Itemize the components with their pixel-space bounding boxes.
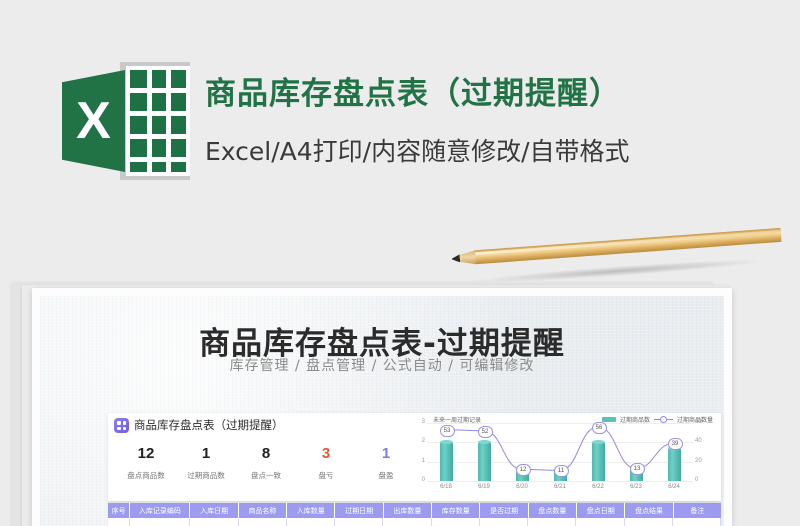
data-table: 序号入库记录编码入库日期商品名称入库数量过期日期出库数量库存数量是否过期盘点数量… [108, 503, 721, 526]
table-header-cell[interactable]: 入库记录编码 [130, 503, 190, 518]
table-header-cell[interactable]: 过期日期 [335, 503, 383, 518]
y-axis-tick-right: 20 [695, 458, 708, 464]
table-cell[interactable] [480, 518, 528, 526]
table-header-cell[interactable]: 入库日期 [190, 503, 238, 518]
table-header-row: 序号入库记录编码入库日期商品名称入库数量过期日期出库数量库存数量是否过期盘点数量… [108, 503, 721, 518]
grid-app-icon [114, 418, 129, 433]
table-cell[interactable] [528, 518, 576, 526]
table-header-cell[interactable]: 盘点日期 [577, 503, 625, 518]
kpi-value: 8 [236, 446, 296, 462]
chart-plot-area: 012302040606/186/196/206/216/226/236/245… [427, 423, 693, 481]
chart-data-label: 11 [554, 465, 569, 477]
banner-title: 商品库存盘点表（过期提醒） [205, 68, 621, 113]
y-axis-tick-left: 1 [416, 458, 425, 464]
table-header-cell[interactable]: 盘点结果 [625, 503, 673, 518]
y-axis-tick-right: 40 [695, 438, 708, 444]
table-header-cell[interactable]: 备注 [674, 503, 721, 518]
kpi-label: 盘亏 [296, 470, 356, 481]
table-cell[interactable] [287, 518, 335, 526]
x-axis-tick: 6/22 [584, 484, 612, 490]
y-axis-tick-left: 2 [416, 438, 425, 444]
kpi-label: 盘点一致 [236, 470, 296, 481]
x-axis-tick: 6/21 [546, 484, 574, 490]
chart-data-label: 56 [592, 422, 607, 434]
table-cell[interactable] [576, 518, 624, 526]
expiry-chart: 未来一周过期记录 过期商品数 过期商品数量 012302040606/186/1… [413, 415, 715, 499]
kpi-value: 1 [356, 446, 416, 462]
chart-gridline [427, 481, 693, 482]
x-axis-tick: 6/19 [470, 484, 498, 490]
table-header-cell[interactable]: 序号 [108, 503, 130, 518]
table-cell[interactable] [130, 518, 190, 526]
table-cell[interactable] [335, 518, 383, 526]
legend-swatch-bar [602, 417, 616, 422]
excel-logo-grid-panel [120, 62, 190, 180]
kpi-item: 3 盘亏 [296, 446, 356, 481]
table-header-cell[interactable]: 是否过期 [480, 503, 528, 518]
y-axis-tick-right: 0 [695, 477, 708, 483]
chart-data-label: 39 [668, 438, 683, 450]
kpi-value: 3 [296, 446, 356, 462]
kpi-row: 12 盘点商品数 1 过期商品数 8 盘点一致 3 盘亏 1 盘盈 [116, 446, 416, 481]
kpi-item: 12 盘点商品数 [116, 446, 176, 481]
table-cell[interactable] [625, 518, 673, 526]
excel-logo: X [62, 62, 190, 180]
kpi-label: 过期商品数 [176, 470, 236, 481]
kpi-item: 1 盘盈 [356, 446, 416, 481]
table-cell[interactable] [673, 518, 721, 526]
chart-data-label: 13 [630, 463, 645, 475]
kpi-label: 盘点商品数 [116, 470, 176, 481]
y-axis-tick-left: 3 [416, 419, 425, 425]
excel-logo-grid [126, 66, 190, 176]
table-header-cell[interactable]: 库存数量 [432, 503, 480, 518]
kpi-value: 1 [176, 446, 236, 462]
kpi-item: 1 过期商品数 [176, 446, 236, 481]
kpi-item: 8 盘点一致 [236, 446, 296, 481]
pencil-graphite-tip [452, 254, 461, 263]
x-axis-tick: 6/24 [660, 484, 688, 490]
kpi-label: 盘盈 [356, 470, 416, 481]
table-cell[interactable] [190, 518, 238, 526]
x-axis-tick: 6/18 [432, 484, 460, 490]
x-axis-tick: 6/20 [508, 484, 536, 490]
x-axis-tick: 6/23 [622, 484, 650, 490]
table-header-cell[interactable]: 出库数量 [384, 503, 432, 518]
dashboard-header: 商品库存盘点表（过期提醒） [114, 417, 284, 433]
chart-data-label: 12 [516, 464, 531, 476]
kpi-value: 12 [116, 446, 176, 462]
y-axis-tick-right: 60 [695, 419, 708, 425]
table-cell[interactable] [108, 518, 130, 526]
document-subtitle: 库存管理 / 盘点管理 / 公式自动 / 可编辑修改 [40, 355, 724, 375]
legend-swatch-line [654, 416, 673, 423]
table-cell[interactable] [239, 518, 287, 526]
excel-logo-letter-x: X [62, 70, 125, 172]
y-axis-tick-left: 0 [416, 477, 425, 483]
dashboard-card: 商品库存盘点表（过期提醒） 12 盘点商品数 1 过期商品数 8 盘点一致 3 … [108, 413, 721, 501]
table-cell[interactable] [432, 518, 480, 526]
table-header-cell[interactable]: 盘点数量 [529, 503, 577, 518]
table-cell[interactable] [383, 518, 431, 526]
table-header-cell[interactable]: 商品名称 [239, 503, 287, 518]
table-row [108, 518, 721, 526]
table-header-cell[interactable]: 入库数量 [287, 503, 335, 518]
chart-data-label: 52 [478, 426, 493, 438]
dashboard-title: 商品库存盘点表（过期提醒） [134, 417, 284, 433]
banner-subtitle: Excel/A4打印/内容随意修改/自带格式 [205, 132, 630, 168]
chart-data-label: 53 [440, 425, 455, 437]
